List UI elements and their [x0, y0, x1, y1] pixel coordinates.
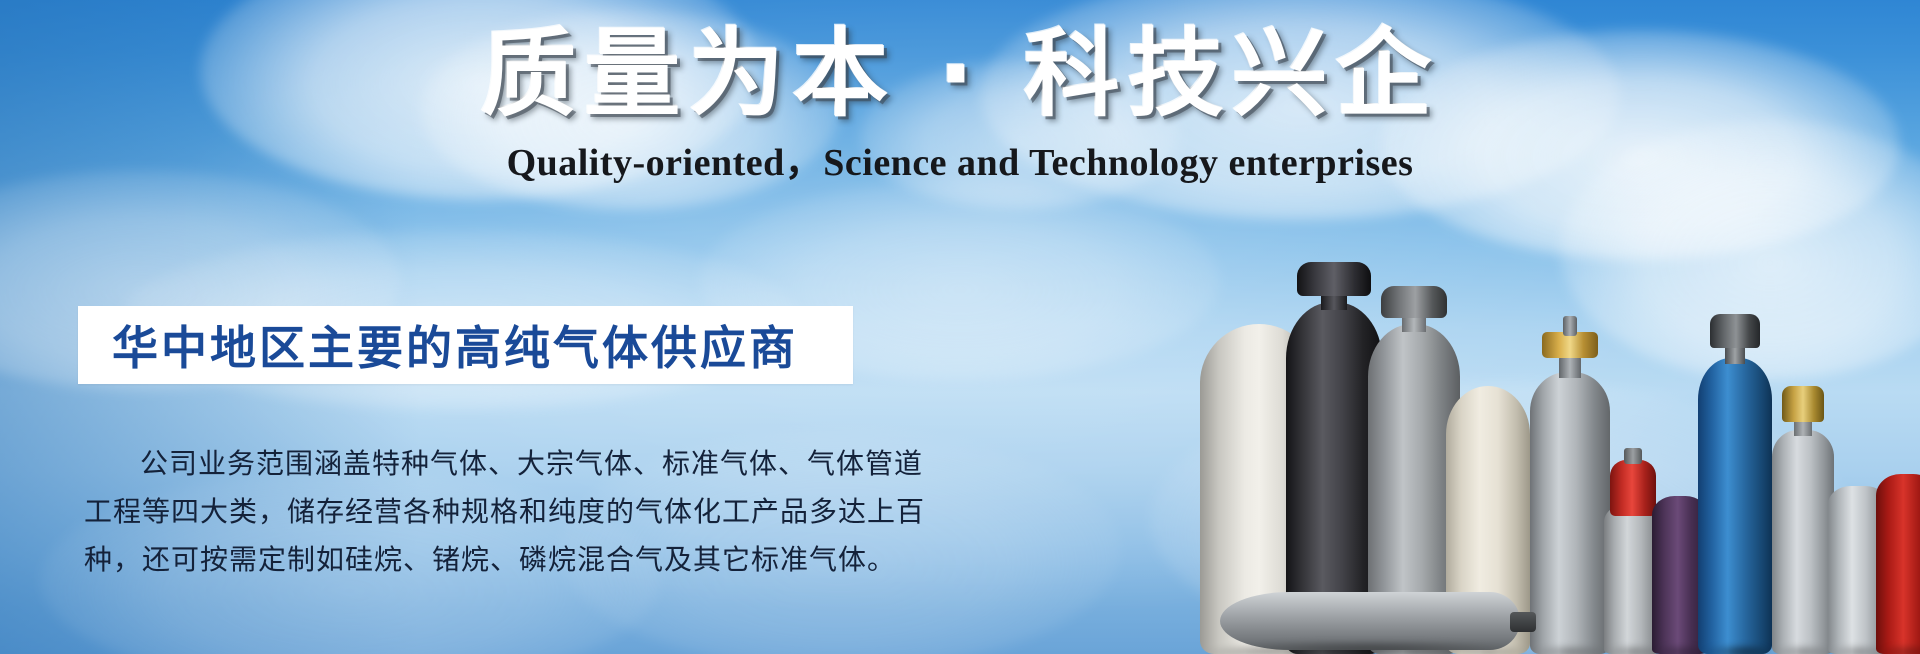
- gas-cylinder-product-group: [1200, 134, 1920, 654]
- aluminium-cylinder: [1772, 386, 1834, 654]
- cylinder-shadow: [1880, 644, 1920, 654]
- headline-english: Quality-oriented，Science and Technology …: [0, 131, 1920, 186]
- lying-grey-cylinder: [1220, 584, 1520, 654]
- highlight-box-text: 华中地区主要的高纯气体供应商: [78, 312, 798, 378]
- valve-stem: [1563, 316, 1577, 336]
- paragraph-line-2: 工程等四大类，储存经营各种规格和纯度的气体化工产品多达上百: [84, 488, 884, 536]
- cylinder-shadow: [1238, 640, 1502, 654]
- description-paragraph: 公司业务范围涵盖特种气体、大宗气体、标准气体、气体管道 工程等四大类，储存经营各…: [84, 440, 884, 584]
- cylinder-valve-cap: [1710, 314, 1760, 348]
- green-small-cylinder: [1716, 466, 1778, 654]
- promotional-banner: 质量为本 · 科技兴企 Quality-oriented，Science and…: [0, 0, 1920, 654]
- cylinder-shadow: [1535, 644, 1605, 654]
- highlight-box: 华中地区主要的高纯气体供应商: [78, 306, 853, 384]
- cylinder-valve-cap: [1381, 286, 1447, 318]
- headline-block: 质量为本 · 科技兴企 Quality-oriented，Science and…: [0, 24, 1920, 186]
- dark-red-cylinder: [1876, 474, 1920, 654]
- steel-valve-cylinder: [1530, 314, 1610, 654]
- red-valve-cap: [1610, 460, 1656, 516]
- valve-knob: [1510, 612, 1536, 632]
- cylinder-shadow: [1720, 644, 1775, 654]
- cylinder-shadow: [1607, 644, 1658, 654]
- cylinder-valve-cap: [1297, 262, 1371, 296]
- paragraph-line-3: 种，还可按需定制如硅烷、锗烷、磷烷混合气及其它标准气体。: [84, 536, 884, 584]
- paragraph-line-1: 公司业务范围涵盖特种气体、大宗气体、标准气体、气体管道: [84, 440, 884, 488]
- headline-chinese: 质量为本 · 科技兴企: [470, 24, 1449, 125]
- cylinder-valve-cap: [1782, 386, 1824, 422]
- cylinder-neck: [1559, 356, 1581, 378]
- cylinder-shadow: [1776, 644, 1831, 654]
- valve-knob: [1624, 448, 1642, 464]
